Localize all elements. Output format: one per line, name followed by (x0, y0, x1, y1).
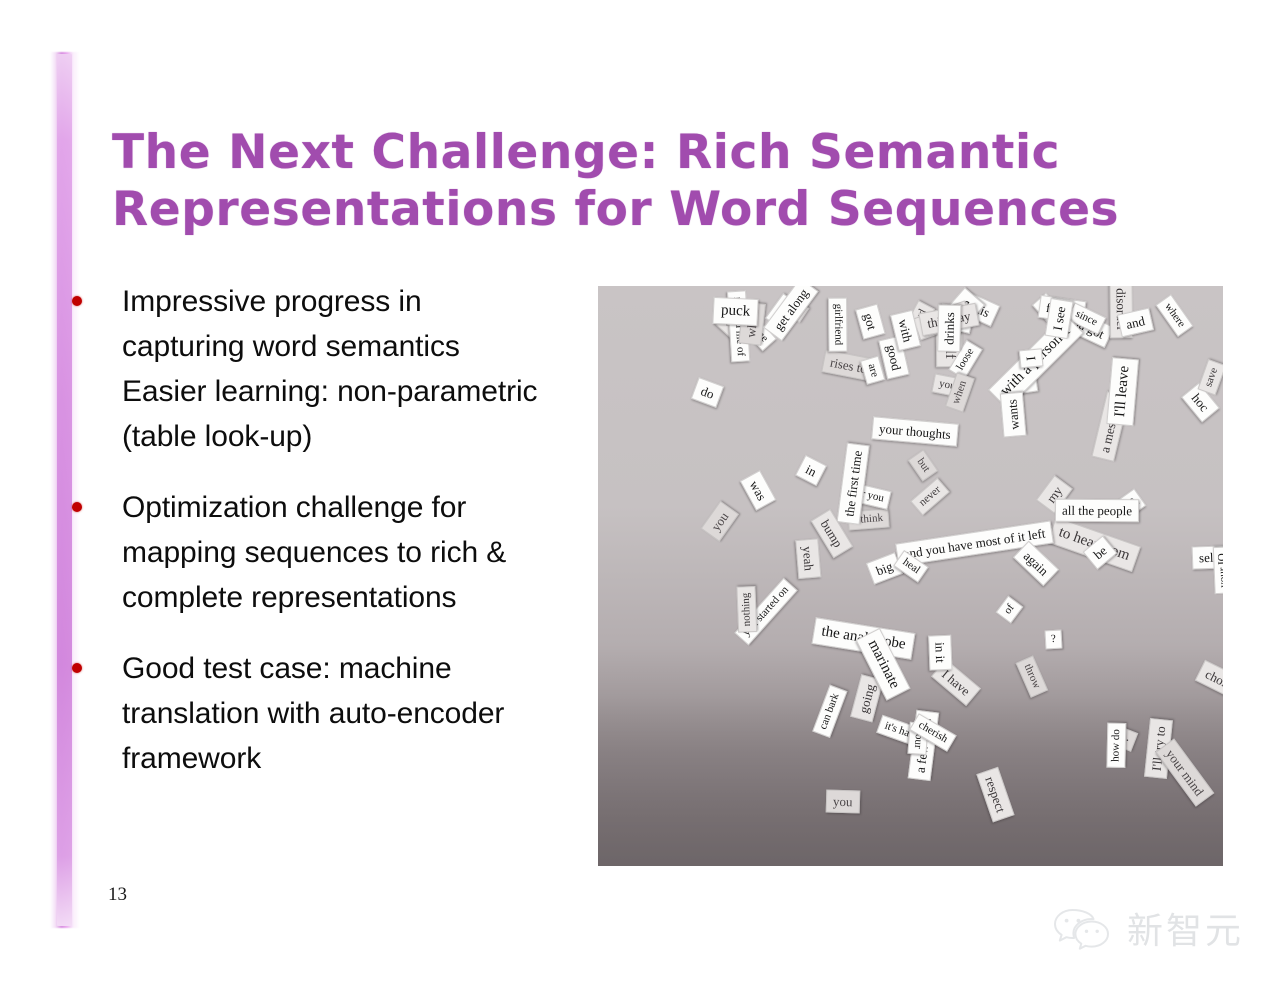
word-strip: your thoughts (871, 416, 959, 446)
word-strip: yeah (795, 538, 821, 578)
bullet-text-3: Good test case: machine translation with… (122, 646, 617, 781)
bullet-marker-3-wrap (72, 646, 122, 673)
bullet-list: Impressive progress in capturing word se… (72, 279, 617, 807)
slide-title-line-2: Representations for Word Sequences (112, 181, 1122, 238)
word-strip: girlfriend (828, 298, 847, 352)
word-strip: of (996, 595, 1024, 623)
word-strip: save (1198, 359, 1223, 395)
slide-title: The Next Challenge: Rich Semantic Repres… (112, 124, 1122, 238)
word-strip: drinks (937, 305, 961, 352)
word-strip: your IQ (1213, 547, 1223, 594)
word-strip: where (1155, 294, 1193, 337)
bullet-text-2: Optimization challenge for mapping seque… (122, 485, 617, 620)
left-accent-stripe (57, 54, 72, 926)
word-strip: in (795, 455, 827, 486)
word-strip: do (691, 377, 724, 408)
wechat-icon (1051, 907, 1113, 956)
word-strip: you (701, 501, 739, 542)
slide-canvas: The Next Challenge: Rich Semantic Repres… (0, 0, 1280, 989)
word-strip: I'll leave (1106, 357, 1139, 426)
word-strip: in it (928, 635, 952, 670)
word-strip: all the people (1055, 499, 1139, 523)
word-strip: throw (1016, 655, 1049, 697)
word-strips-photo: I'll try toyoua messageI thinkyou starte… (598, 286, 1223, 866)
word-strip: but (908, 449, 938, 481)
word-strip: you (826, 790, 860, 814)
word-strip: puck (712, 297, 758, 326)
word-strip: are (860, 356, 885, 386)
bullet-text-1: Impressive progress in capturing word se… (122, 279, 617, 459)
bullet-dot-icon (72, 296, 82, 306)
slide-number: 13 (108, 884, 127, 906)
word-strip: never (910, 477, 950, 515)
slide-title-line-1: The Next Challenge: Rich Semantic (112, 124, 1122, 181)
word-strip: got (855, 304, 885, 340)
bullet-item-3: Good test case: machine translation with… (72, 646, 617, 781)
word-strip: can bark (812, 685, 847, 738)
watermark-text: 新智元 (1127, 914, 1244, 950)
watermark: 新智元 (1051, 907, 1244, 956)
word-strip: choking (1195, 660, 1223, 706)
word-strip: how do (1106, 723, 1126, 768)
bullet-item-2: Optimization challenge for mapping seque… (72, 485, 617, 620)
bullet-item-1: Impressive progress in capturing word se… (72, 279, 617, 459)
word-strip: wants (1000, 391, 1027, 437)
bullet-marker-1-wrap (72, 279, 122, 306)
word-strips-scene: I'll try toyoua messageI thinkyou starte… (598, 286, 1223, 866)
word-strip: nothing (736, 586, 757, 632)
bullet-marker-2-wrap (72, 485, 122, 512)
bullet-dot-icon (72, 663, 82, 673)
word-strip: I (1019, 348, 1044, 368)
word-strip: was (740, 470, 777, 511)
bullet-dot-icon (72, 502, 82, 512)
word-strip: respect (976, 767, 1014, 823)
word-strip: ? (1044, 630, 1062, 650)
